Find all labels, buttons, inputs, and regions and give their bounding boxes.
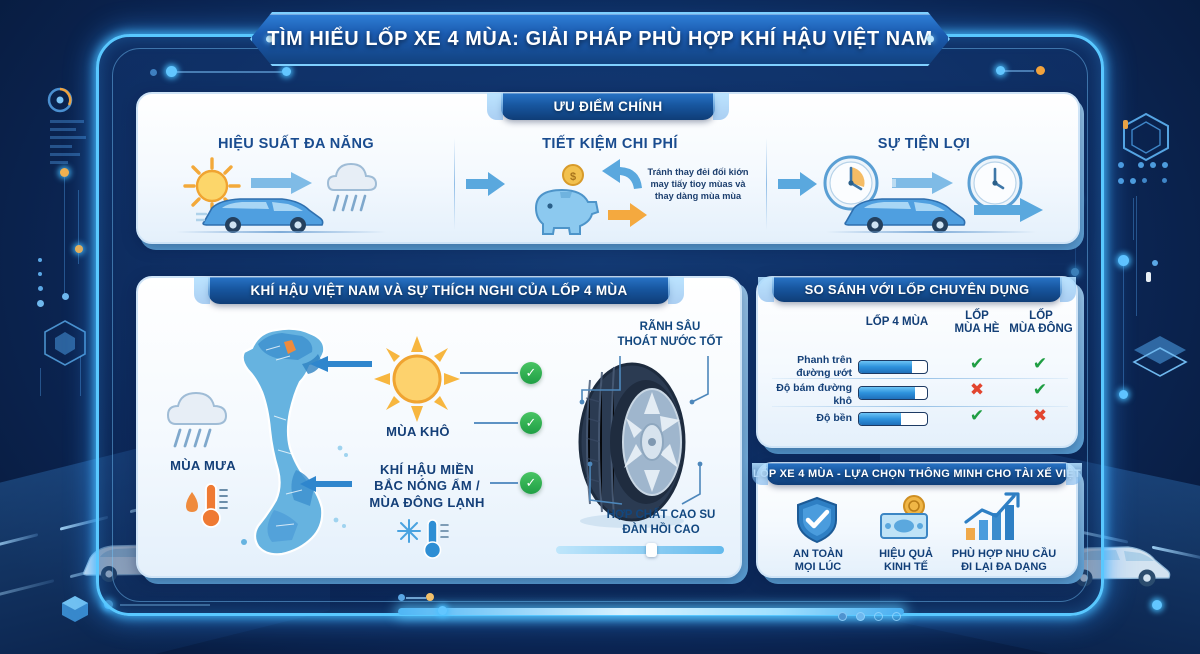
bar-fill bbox=[859, 387, 915, 399]
advantages-panel: ƯU ĐIỂM CHÍNH HIỆU SUẤT ĐA NĂNG bbox=[136, 92, 1080, 244]
arrow-icon bbox=[974, 198, 1044, 222]
advantage-title-1: TIẾT KIỆM CHI PHÍ bbox=[454, 136, 766, 152]
advantage-title-2: SỰ TIỆN LỢI bbox=[766, 136, 1082, 152]
header: TÌM HIỂU LỐP XE 4 MÙA: GIẢI PHÁP PHÙ HỢP… bbox=[250, 8, 950, 70]
row-separator bbox=[772, 378, 1068, 379]
curved-arrow-icon bbox=[600, 158, 644, 198]
climate-label-rain: MÙA MƯA bbox=[148, 458, 258, 474]
frame-connector bbox=[1004, 70, 1034, 72]
bar-fill bbox=[859, 361, 912, 373]
comparison-mark-1-summer: ✖ bbox=[948, 380, 1006, 400]
callout-leader-line bbox=[578, 460, 728, 510]
ground-line bbox=[176, 231, 386, 233]
comparison-col-header-0: LỐP 4 MÙA bbox=[854, 316, 940, 329]
comparison-mark-0-winter: ✔ bbox=[1008, 354, 1072, 374]
arrow-icon-orange bbox=[608, 202, 648, 228]
ground-line bbox=[826, 231, 1036, 233]
benefit-label-2: PHÙ HỢP NHU CẦU ĐI LẠI ĐA DẠNG bbox=[944, 548, 1064, 574]
comparison-mark-2-summer: ✔ bbox=[948, 406, 1006, 426]
check-connector bbox=[460, 372, 518, 374]
advantage-title-0: HIỆU SUẤT ĐA NĂNG bbox=[138, 136, 454, 152]
money-bill-icon bbox=[876, 494, 932, 544]
pager-dot-1[interactable] bbox=[838, 612, 847, 621]
comparison-bar-0 bbox=[858, 360, 928, 374]
benefits-panel: LỐP XE 4 MÙA - LỰA CHỌN THÔNG MINH CHO T… bbox=[756, 462, 1078, 578]
pager-dot-3[interactable] bbox=[874, 612, 883, 621]
tire-callout-1: HỢP CHẤT CAO SU ĐÀN HỒI CAO bbox=[582, 508, 740, 538]
layers-icon bbox=[1128, 330, 1192, 382]
hexagon-cube-icon bbox=[40, 318, 90, 368]
svg-text:$: $ bbox=[570, 171, 576, 183]
comparison-row-label-1: Độ bám đường khô bbox=[762, 382, 852, 407]
comparison-col-header-2: LỐP MÙA ĐÔNG bbox=[1006, 310, 1076, 336]
climate-banner: KHÍ HẬU VIỆT NAM VÀ SỰ THÍCH NGHI CỦA LỐ… bbox=[208, 277, 670, 304]
pager-dot-2[interactable] bbox=[856, 612, 865, 621]
comparison-bar-2 bbox=[858, 412, 928, 426]
benefit-label-0: AN TOÀN MỌI LÚC bbox=[776, 548, 860, 574]
shield-check-icon bbox=[794, 496, 840, 544]
savings-note: Tránh thay đẻi đối kiớn may tiấy tioy mù… bbox=[646, 166, 750, 202]
infographic-canvas: TÌM HIỂU LỐP XE 4 MÙA: GIẢI PHÁP PHÙ HỢP… bbox=[0, 0, 1200, 654]
snowflake-thermometer-icon bbox=[396, 514, 458, 564]
pager-dot-4[interactable] bbox=[892, 612, 901, 621]
slider-handle[interactable] bbox=[646, 543, 657, 557]
bar-fill bbox=[859, 413, 901, 425]
climate-label-north: KHÍ HẬU MIỀN BẮC NÓNG ẨM / MÙA ĐÔNG LẠNH bbox=[352, 462, 502, 511]
tire-callout-0: RÃNH SÂU THOÁT NƯỚC TỐT bbox=[600, 320, 740, 350]
growth-chart-icon bbox=[962, 492, 1024, 544]
frame-dot bbox=[150, 69, 157, 76]
comparison-col-header-1: LỐP MÙA HÈ bbox=[948, 310, 1006, 336]
check-badge: ✓ bbox=[520, 362, 542, 384]
benefits-banner: LỐP XE 4 MÙA - LỰA CHỌN THÔNG MINH CHO T… bbox=[766, 463, 1068, 485]
rain-cloud-icon bbox=[318, 156, 388, 226]
comparison-mark-2-winter: ✖ bbox=[1008, 406, 1072, 426]
bottom-dot bbox=[398, 594, 405, 601]
page-title: TÌM HIỂU LỐP XE 4 MÙA: GIẢI PHÁP PHÙ HỢP… bbox=[267, 27, 933, 51]
comparison-row-label-0: Phanh trên đường ướt bbox=[764, 354, 852, 379]
comparison-mark-1-winter: ✔ bbox=[1008, 380, 1072, 400]
arrow-icon bbox=[778, 172, 818, 196]
arrow-icon-left bbox=[310, 356, 372, 372]
comparison-panel: SO SÁNH VỚI LỐP CHUYÊN DỤNG LỐP 4 MÙA LỐ… bbox=[756, 276, 1078, 448]
comparison-banner: SO SÁNH VỚI LỐP CHUYÊN DỤNG bbox=[772, 277, 1062, 302]
sun-icon bbox=[374, 336, 460, 422]
climate-panel: KHÍ HẬU VIỆT NAM VÀ SỰ THÍCH NGHI CỦA LỐ… bbox=[136, 276, 742, 578]
rain-cloud-icon bbox=[156, 386, 242, 458]
bottom-dot bbox=[438, 606, 447, 615]
car-icon bbox=[196, 190, 328, 236]
callout-leader-line bbox=[568, 350, 728, 408]
frame-connector bbox=[177, 71, 282, 73]
frame-dot-orange bbox=[1036, 66, 1045, 75]
page-title-plate: TÌM HIỂU LỐP XE 4 MÙA: GIẢI PHÁP PHÙ HỢP… bbox=[250, 12, 950, 66]
bottom-glow-bar bbox=[398, 608, 904, 615]
thermometer-hot-icon bbox=[180, 478, 234, 532]
check-badge: ✓ bbox=[520, 412, 542, 434]
title-dot-right bbox=[927, 36, 934, 43]
car-icon bbox=[838, 190, 970, 236]
arrow-icon-left bbox=[300, 476, 352, 492]
climate-label-dry: MÙA KHÔ bbox=[366, 424, 470, 440]
comparison-mark-0-summer: ✔ bbox=[948, 354, 1006, 374]
slider-track[interactable] bbox=[556, 546, 724, 554]
arrow-icon bbox=[466, 172, 506, 196]
comparison-bar-1 bbox=[858, 386, 928, 400]
comparison-row-label-2: Độ bền bbox=[764, 412, 852, 425]
piggy-bank-icon: $ bbox=[520, 164, 612, 242]
advantages-banner: ƯU ĐIỂM CHÍNH bbox=[501, 93, 715, 120]
cube-icon bbox=[58, 592, 92, 624]
bottom-connector bbox=[406, 597, 426, 599]
check-connector bbox=[490, 482, 518, 484]
frame-dot bbox=[166, 66, 177, 77]
hexagon-icon bbox=[1118, 110, 1174, 162]
check-connector bbox=[474, 422, 518, 424]
benefit-label-1: HIỆU QUẢ KINH TẾ bbox=[866, 548, 946, 574]
bottom-dot-orange bbox=[426, 593, 434, 601]
check-badge: ✓ bbox=[520, 472, 542, 494]
